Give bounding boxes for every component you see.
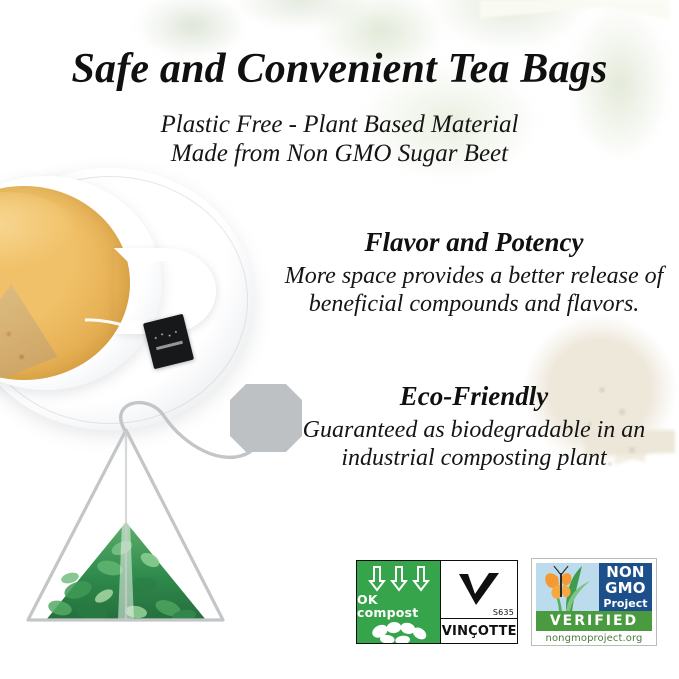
- vincotte-panel: S635 VINÇOTTE: [440, 561, 517, 643]
- checkmark-icon: [456, 571, 502, 609]
- page-title: Safe and Convenient Tea Bags: [0, 48, 679, 90]
- benefit-panel-flavor: Flavor and Potency More space provides a…: [269, 228, 679, 319]
- non-gmo-line-gmo: GMO: [605, 581, 646, 596]
- benefit-title-eco: Eco-Friendly: [269, 382, 679, 412]
- tea-bag-string: [84, 318, 150, 334]
- non-gmo-project-badge: NON GMO Project VERIFIED nongmoproject.o…: [531, 558, 657, 646]
- butterfly: [545, 566, 571, 599]
- subtitle-line-2: Made from Non GMO Sugar Beet: [0, 139, 679, 169]
- vincotte-check-area: S635: [441, 561, 517, 619]
- down-arrow-icon: [412, 565, 430, 593]
- butterfly-grass-panel: [536, 563, 599, 611]
- infographic-poster: Safe and Convenient Tea Bags Plastic Fre…: [0, 0, 679, 679]
- compost-flower-icon: [359, 621, 439, 643]
- certification-badges: OK compost S635 VINÇOTTE: [0, 556, 679, 652]
- benefit-body-flavor: More space provides a better release of …: [269, 262, 679, 320]
- vincotte-label: VINÇOTTE: [441, 619, 517, 643]
- benefit-title-flavor: Flavor and Potency: [269, 228, 679, 258]
- non-gmo-top-row: NON GMO Project: [536, 563, 652, 611]
- ok-compost-badge: OK compost S635 VINÇOTTE: [356, 560, 518, 644]
- non-gmo-line-project: Project: [603, 598, 647, 609]
- down-arrow-icon: [390, 565, 408, 593]
- tag-logo-underline: [156, 341, 183, 350]
- non-gmo-wordmark: NON GMO Project: [599, 563, 652, 611]
- subtitle-line-1: Plastic Free - Plant Based Material: [0, 110, 679, 140]
- butterfly-grass-icon: [536, 563, 599, 611]
- certificate-code: S635: [493, 608, 514, 617]
- ok-compost-label: OK compost: [357, 594, 440, 619]
- tag-logo-script: [152, 327, 182, 343]
- steeping-tea-bag: [0, 282, 60, 380]
- non-gmo-verified-band: VERIFIED: [536, 611, 652, 631]
- non-gmo-url: nongmoproject.org: [536, 631, 652, 646]
- ok-compost-arrows: [368, 565, 430, 593]
- benefit-panel-eco: Eco-Friendly Guaranteed as biodegradable…: [269, 382, 679, 473]
- non-gmo-line-non: NON: [606, 565, 644, 580]
- ok-compost-green-panel: OK compost: [357, 561, 440, 643]
- tea-surface-sheen: [0, 192, 78, 272]
- benefit-body-eco: Guaranteed as biodegradable in an indust…: [269, 416, 679, 474]
- down-arrow-icon: [368, 565, 386, 593]
